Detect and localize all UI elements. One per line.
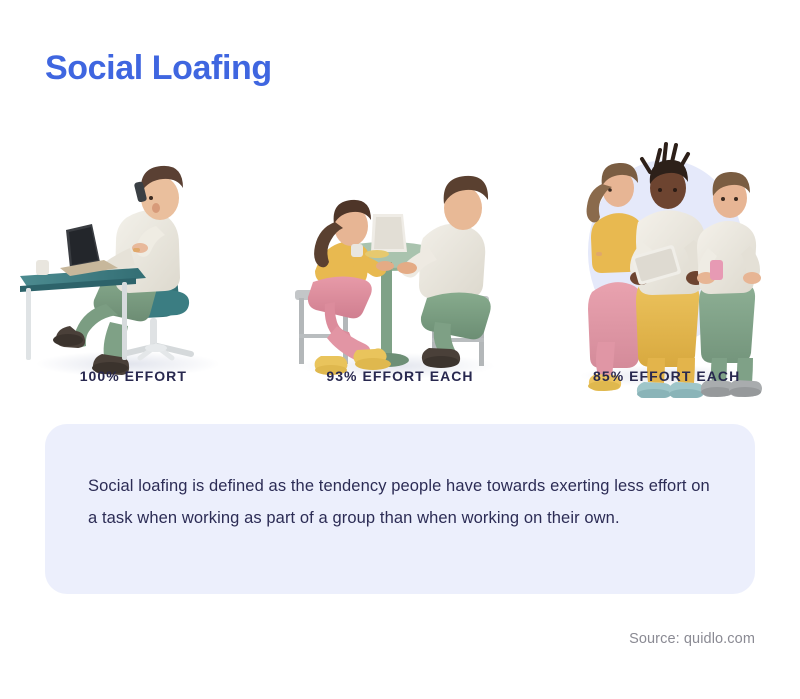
effort-label-group: 85% EFFORT EACH	[593, 368, 740, 384]
effort-label-solo: 100% EFFORT	[80, 368, 187, 384]
plate	[365, 250, 389, 258]
person-head	[141, 166, 183, 220]
laptop	[371, 214, 407, 252]
infographic-page: Social Loafing	[0, 0, 800, 699]
wristwatch	[133, 248, 140, 252]
solo-worker-svg	[10, 126, 256, 398]
illustration-row	[0, 126, 800, 398]
definition-callout: Social loafing is defined as the tendenc…	[45, 424, 755, 594]
laptop	[60, 224, 118, 276]
label-cell-solo: 100% EFFORT	[10, 368, 256, 386]
label-cell-group: 85% EFFORT EACH	[544, 368, 790, 386]
page-title: Social Loafing	[45, 48, 272, 89]
source-attribution: Source: quidlo.com	[629, 631, 755, 647]
coffee-mug	[36, 260, 49, 275]
pair-working-svg	[277, 126, 523, 398]
coffee-mug	[351, 244, 363, 257]
group-working-svg	[544, 126, 790, 398]
definition-text: Social loafing is defined as the tendenc…	[88, 470, 716, 534]
illustration-pair-working	[277, 126, 523, 398]
illustration-group-working	[544, 126, 790, 398]
mobile-phone	[710, 260, 723, 280]
effort-label-row: 100% EFFORT 93% EFFORT EACH 85% EFFORT E…	[0, 368, 800, 386]
effort-label-pair: 93% EFFORT EACH	[326, 368, 473, 384]
illustration-solo-worker	[10, 126, 256, 398]
label-cell-pair: 93% EFFORT EACH	[277, 368, 523, 386]
wristwatch	[596, 252, 602, 256]
